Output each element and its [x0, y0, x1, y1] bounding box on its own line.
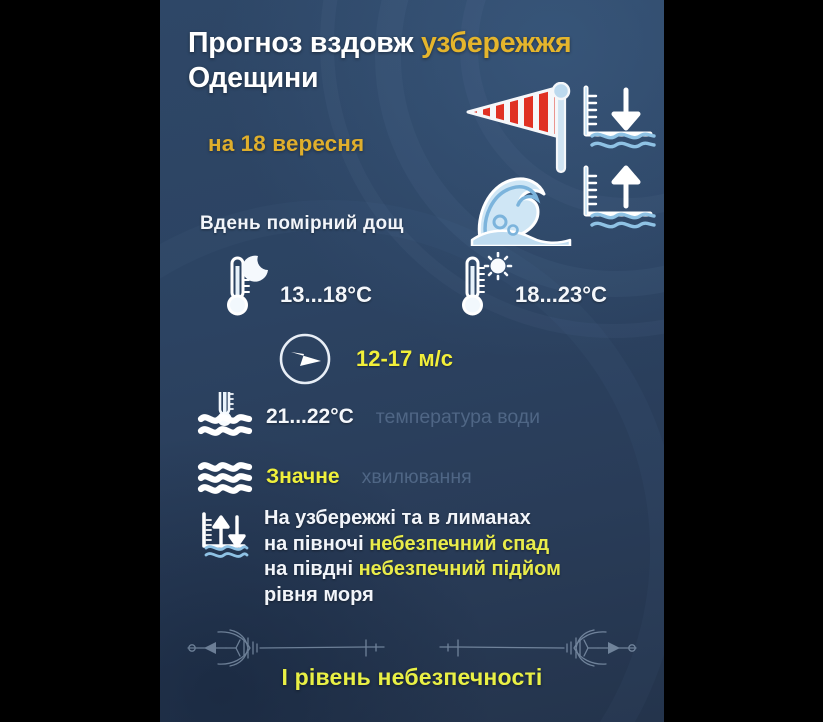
- condition-summary: Вдень помірний дощ: [200, 213, 404, 235]
- warning-line-3-prefix: на півдні: [264, 558, 359, 580]
- danger-level-label: I рівень небезпечності: [160, 664, 664, 691]
- warning-line-1: На узбережжі та в лиманах: [264, 507, 531, 529]
- weather-forecast-poster: Прогноз вздовж узбережжяОдещини на 18 ве…: [160, 0, 664, 722]
- letterbox-left: [0, 0, 160, 722]
- wind-row: 12-17 м/с: [278, 332, 453, 386]
- warning-line-2-prefix: на півночі: [264, 533, 369, 555]
- water-temperature-label: температура води: [376, 406, 540, 429]
- day-temperature-value: 18...23°C: [515, 282, 607, 318]
- sea-level-warning-text: На узбережжі та в лиманахна півночі небе…: [264, 506, 561, 608]
- sea-level-warning: На узбережжі та в лиманахна півночі небе…: [196, 506, 656, 608]
- forecast-date: на 18 вересня: [208, 131, 364, 157]
- night-temperature-value: 13...18°C: [280, 282, 372, 318]
- title-highlight-text: узбережжя: [421, 27, 572, 59]
- title-second-line: Одещини: [188, 62, 318, 94]
- waves-icon: [196, 452, 254, 502]
- wave-state-row: Значне хвилювання: [196, 452, 472, 502]
- temperature-row: 13...18°C: [160, 252, 664, 324]
- title-main-text: Прогноз вздовж: [188, 27, 421, 59]
- screenshot-canvas: Прогноз вздовж узбережжяОдещини на 18 ве…: [0, 0, 823, 722]
- water-temperature-value: 21...22°C: [266, 405, 354, 429]
- water-thermometer-icon: [196, 392, 254, 442]
- thermometer-sun-icon: [455, 252, 513, 318]
- day-temperature: 18...23°C: [455, 252, 607, 318]
- water-level-rise-icon: [576, 164, 660, 236]
- wave-state-label: хвилювання: [362, 466, 472, 489]
- water-level-drop-icon: [576, 84, 660, 156]
- warning-line-2-highlight: небезпечний спад: [369, 533, 549, 555]
- water-temperature-row: 21...22°C температура води: [196, 392, 540, 442]
- letterbox-right: [664, 0, 823, 722]
- night-temperature: 13...18°C: [220, 252, 372, 318]
- warning-line-3-highlight: небезпечний підйом: [359, 558, 561, 580]
- wind-speed-value: 12-17 м/с: [356, 346, 453, 372]
- thermometer-moon-icon: [220, 252, 278, 318]
- wave-state-value: Значне: [266, 465, 340, 489]
- wind-direction-compass-icon: [278, 332, 332, 386]
- hero-icon-cluster: [456, 78, 664, 248]
- warning-line-4: рівня моря: [264, 584, 374, 606]
- water-level-change-icon: [196, 510, 250, 564]
- sea-wave-icon: [466, 160, 578, 246]
